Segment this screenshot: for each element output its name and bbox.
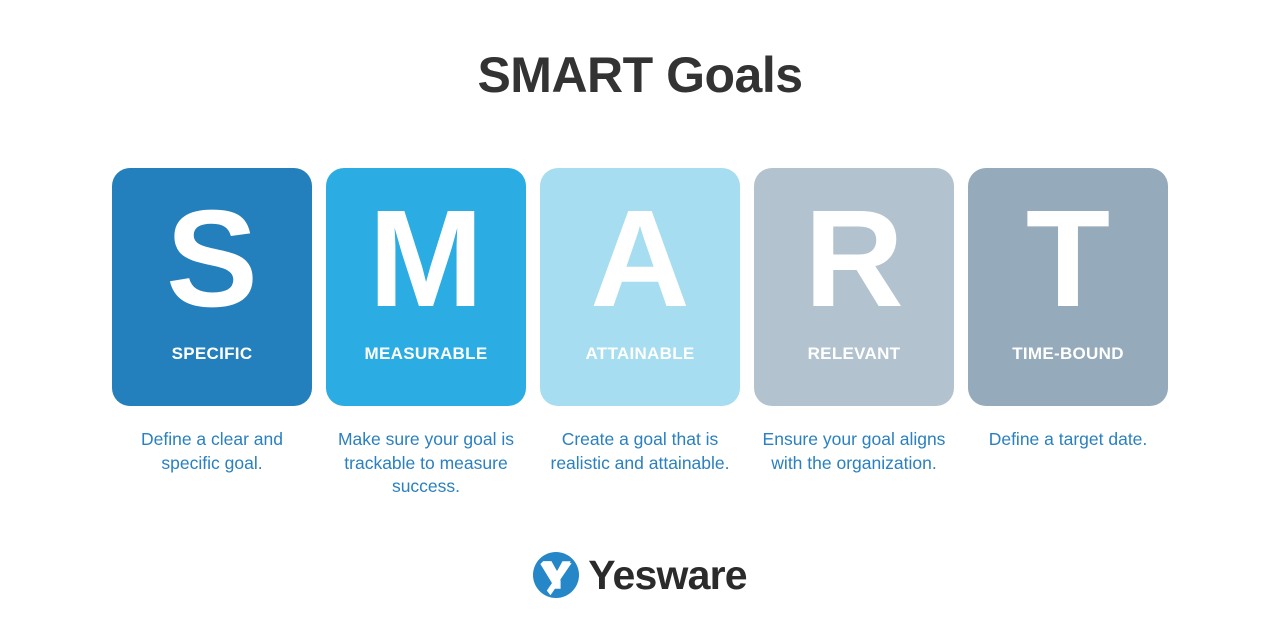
smart-card-relevant: R RELEVANT (754, 168, 954, 406)
captions-row: Define a clear and specific goal. Make s… (112, 428, 1168, 499)
card-label-measurable: MEASURABLE (326, 344, 526, 364)
smart-card-measurable: M MEASURABLE (326, 168, 526, 406)
card-letter-s: S (166, 190, 258, 328)
caption-measurable: Make sure your goal is trackable to meas… (326, 428, 526, 499)
card-letter-m: M (369, 190, 484, 328)
card-letter-t: T (1026, 190, 1110, 328)
caption-specific: Define a clear and specific goal. (112, 428, 312, 499)
smart-goals-infographic: SMART Goals S SPECIFIC M MEASURABLE A AT… (0, 0, 1280, 642)
card-letter-a: A (590, 190, 690, 328)
caption-relevant: Ensure your goal aligns with the organiz… (754, 428, 954, 499)
smart-card-specific: S SPECIFIC (112, 168, 312, 406)
smart-cards-row: S SPECIFIC M MEASURABLE A ATTAINABLE R R… (112, 168, 1168, 406)
footer: Yesware (0, 552, 1280, 598)
page-title: SMART Goals (0, 48, 1280, 103)
card-label-relevant: RELEVANT (754, 344, 954, 364)
yesware-logo: Yesware (533, 552, 747, 598)
caption-attainable: Create a goal that is realistic and atta… (540, 428, 740, 499)
card-label-attainable: ATTAINABLE (540, 344, 740, 364)
yesware-wordmark: Yesware (588, 555, 747, 596)
smart-card-attainable: A ATTAINABLE (540, 168, 740, 406)
card-label-time-bound: TIME-BOUND (968, 344, 1168, 364)
card-label-specific: SPECIFIC (112, 344, 312, 364)
yesware-y-circle-icon (533, 552, 579, 598)
smart-card-time-bound: T TIME-BOUND (968, 168, 1168, 406)
caption-time-bound: Define a target date. (968, 428, 1168, 499)
card-letter-r: R (804, 190, 904, 328)
